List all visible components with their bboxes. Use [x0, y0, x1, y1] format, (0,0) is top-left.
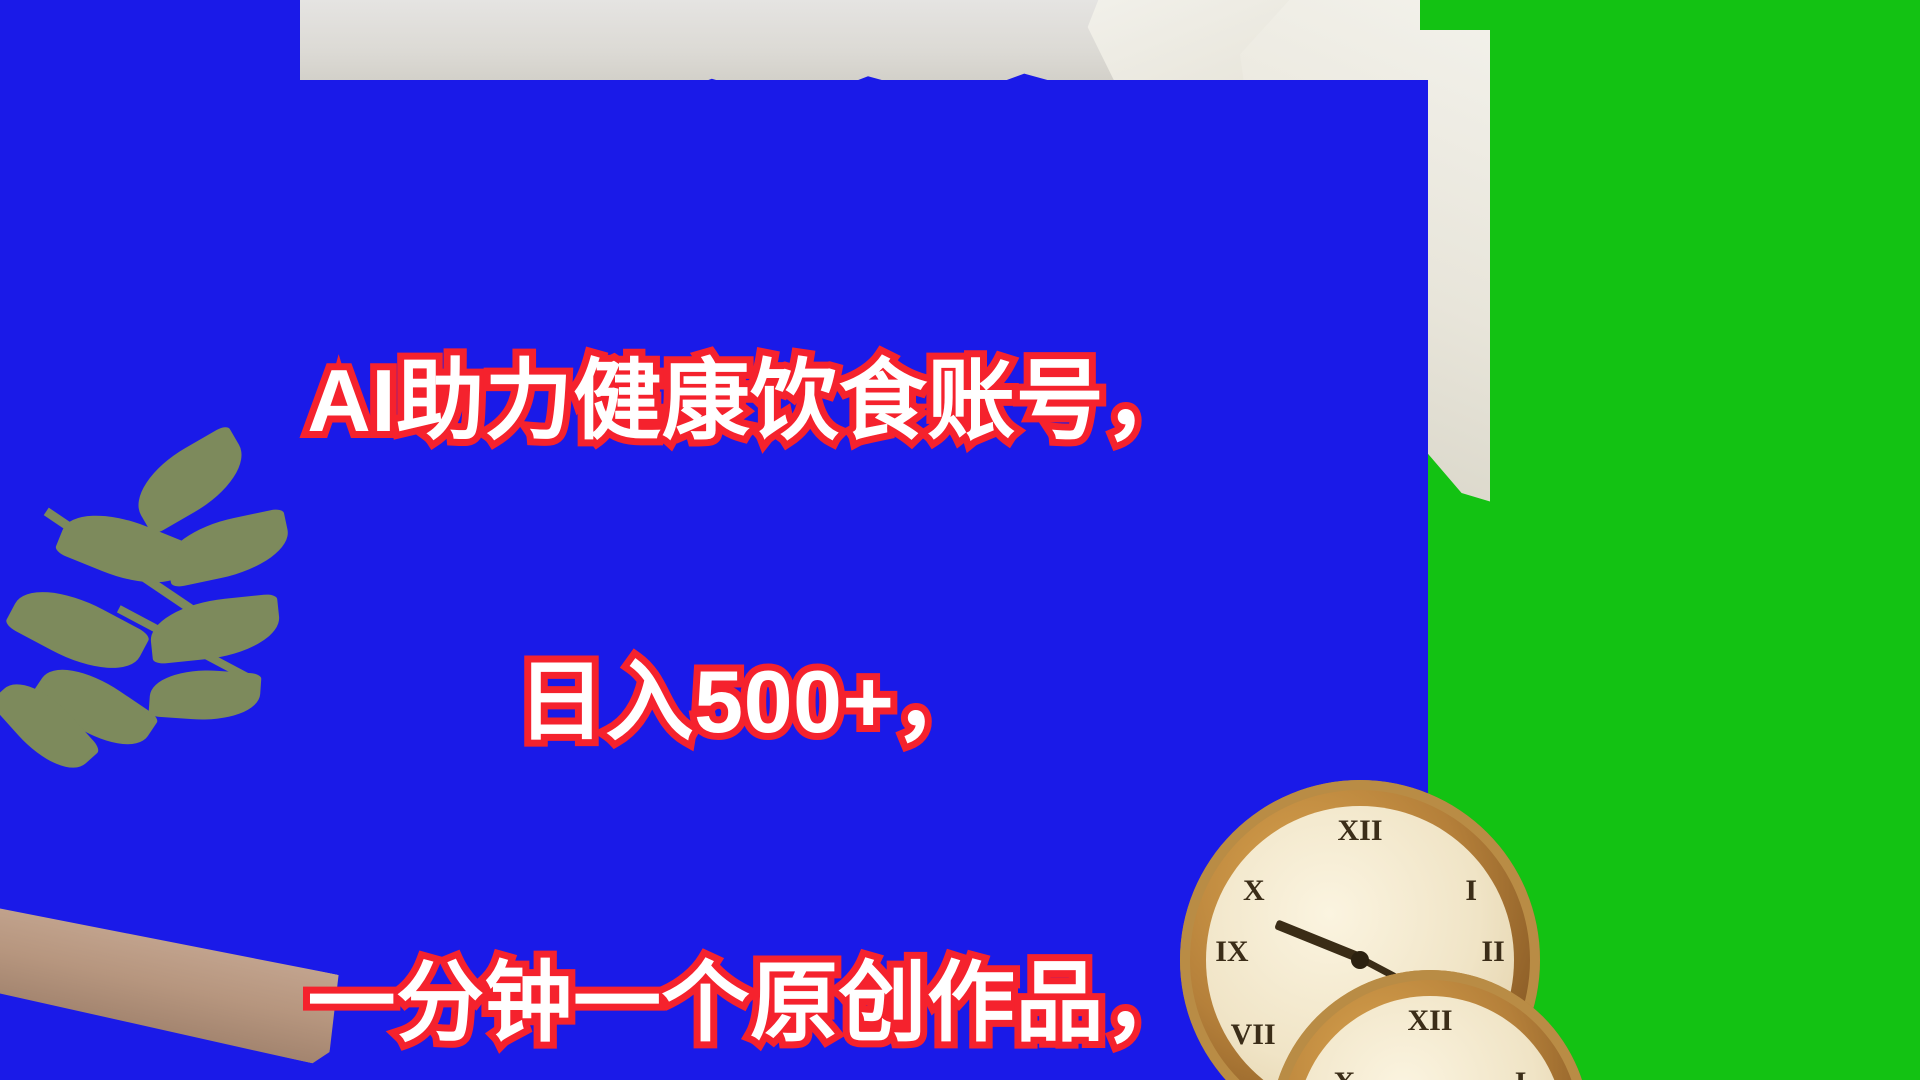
headline-line-1: AI助力健康饮食账号，	[0, 351, 1500, 451]
poster-headline: AI助力健康饮食账号， 日入500+， 一分钟一个原创作品， 小白轻松实现引流赚…	[0, 150, 1500, 1080]
watch-numeral: I	[1515, 1066, 1527, 1080]
headline-line-2: 日入500+，	[0, 652, 1500, 752]
headline-line-3: 一分钟一个原创作品，	[0, 953, 1500, 1053]
poster-canvas: XII I II III V VII IX X XII X I AI助力健康饮食…	[0, 0, 1920, 1080]
background-green-notch	[1420, 0, 1510, 30]
background-green-panel	[1490, 0, 1920, 1080]
